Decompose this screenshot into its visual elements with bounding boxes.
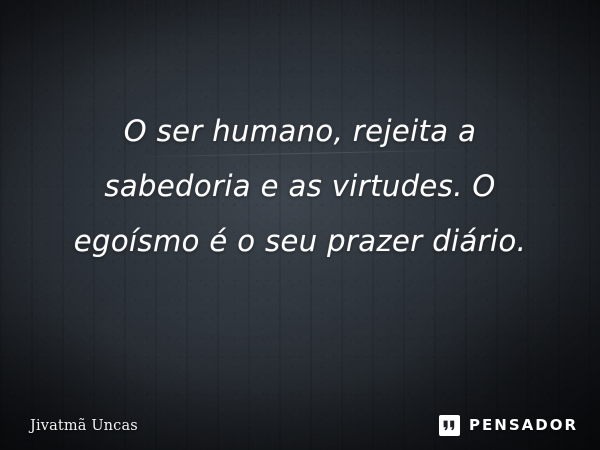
quote-text-block: O ser humano, rejeita a sabedoria e as v…: [0, 104, 600, 269]
pensador-wordmark: PENSADOR: [469, 418, 578, 433]
pensador-logo[interactable]: PENSADOR: [439, 415, 578, 436]
quote-line-2: sabedoria e as virtudes. O: [26, 159, 574, 214]
quote-card: O ser humano, rejeita a sabedoria e as v…: [0, 0, 600, 450]
quote-line-3: egoísmo é o seu prazer diário.: [26, 214, 574, 269]
quote-line-1: O ser humano, rejeita a: [26, 104, 574, 159]
author-name: Jivatmã Uncas: [30, 418, 138, 434]
quote-mark-icon: [439, 415, 460, 436]
